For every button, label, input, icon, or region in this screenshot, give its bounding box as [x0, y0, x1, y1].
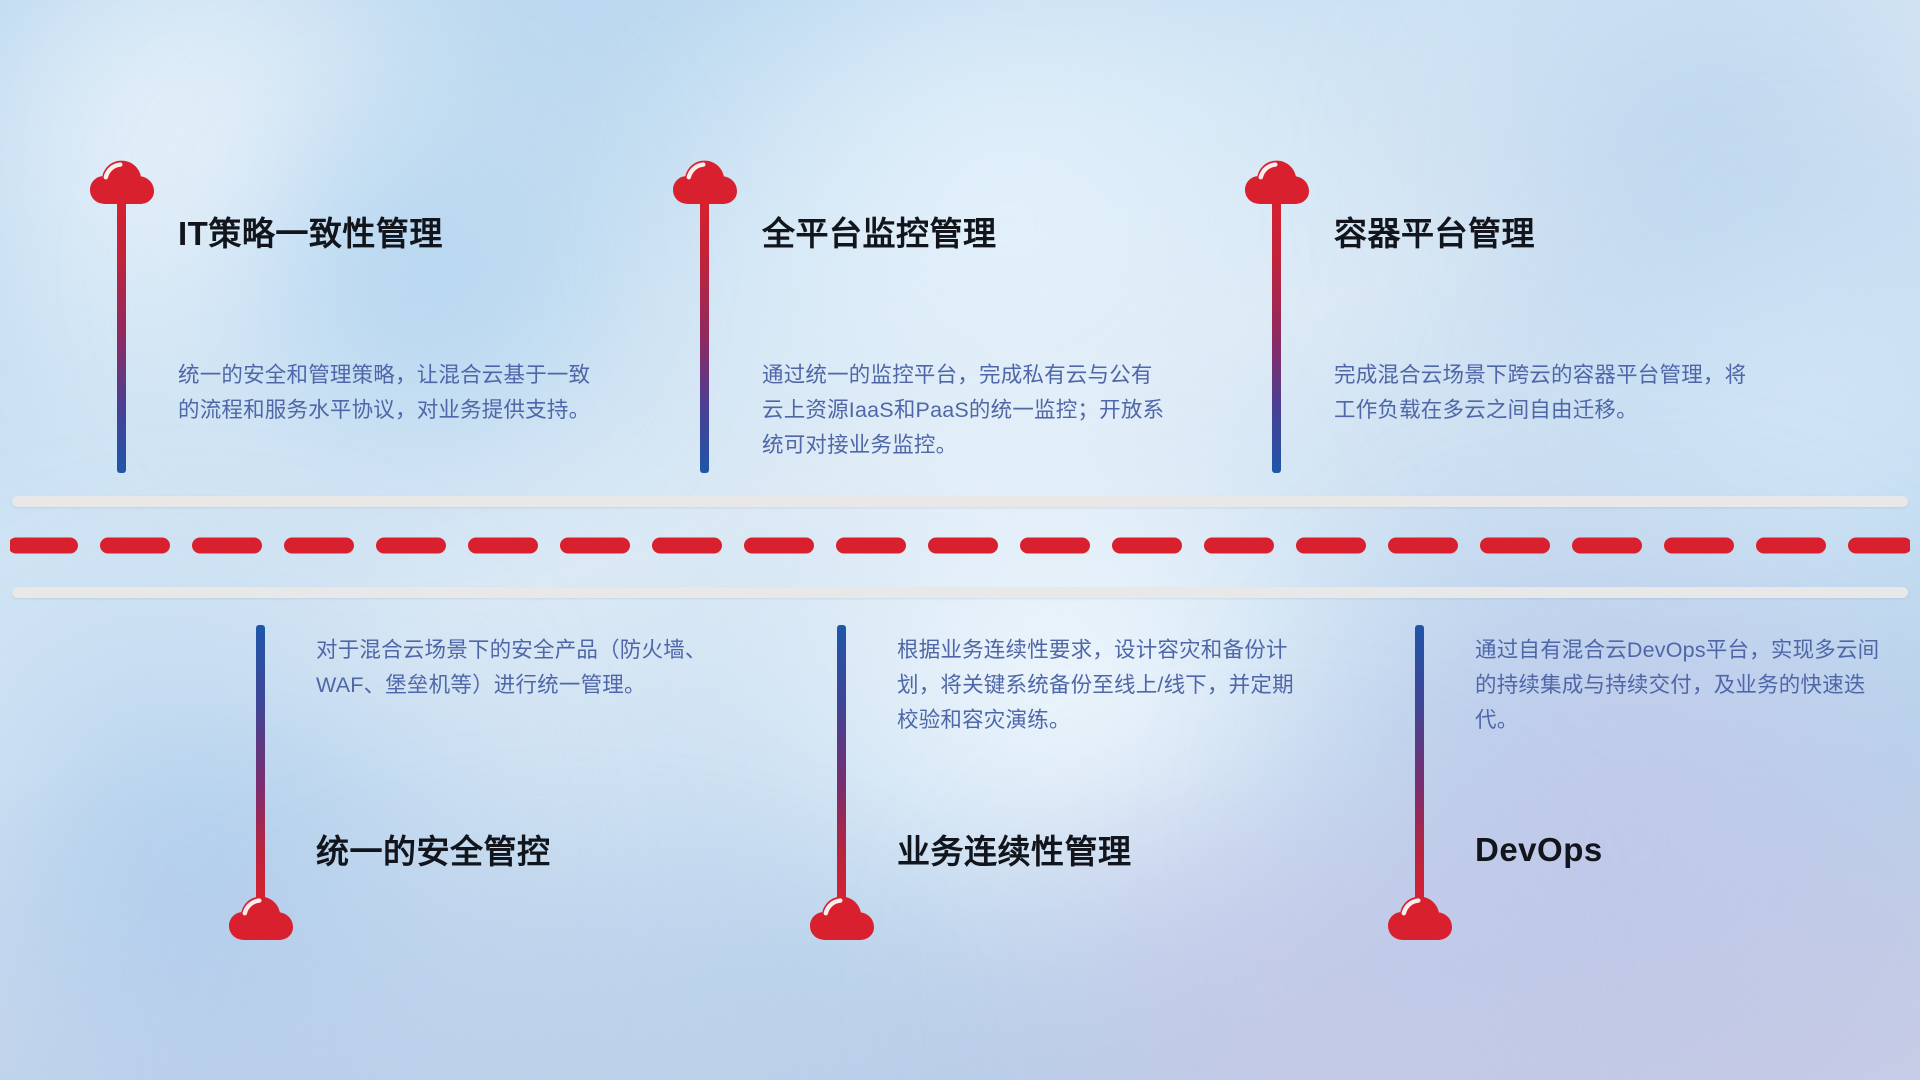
cloud-icon	[808, 893, 876, 943]
section-title: 统一的安全管控	[316, 835, 551, 868]
divider-rule-bottom	[12, 587, 1908, 598]
section-title: 业务连续性管理	[897, 835, 1132, 868]
pin-stem	[117, 193, 126, 473]
pin-stem	[700, 193, 709, 473]
section-body: 统一的安全和管理策略，让混合云基于一致的流程和服务水平协议，对业务提供支持。	[178, 358, 598, 428]
red-dashed-line	[10, 537, 1910, 554]
section-body: 完成混合云场景下跨云的容器平台管理，将工作负载在多云之间自由迁移。	[1334, 358, 1764, 428]
cloud-icon	[227, 893, 295, 943]
cloud-icon	[1243, 157, 1311, 207]
infographic-canvas: IT策略一致性管理 统一的安全和管理策略，让混合云基于一致的流程和服务水平协议，…	[0, 0, 1920, 1080]
divider	[0, 484, 1920, 604]
pin-stem	[1415, 625, 1424, 905]
pin-stem	[837, 625, 846, 905]
section-body: 根据业务连续性要求，设计容灾和备份计划，将关键系统备份至线上/线下，并定期校验和…	[897, 633, 1315, 737]
section-title: 全平台监控管理	[762, 217, 997, 250]
section-body: 对于混合云场景下的安全产品（防火墙、WAF、堡垒机等）进行统一管理。	[316, 633, 728, 703]
section-title: DevOps	[1475, 833, 1603, 866]
divider-rule-top	[12, 496, 1908, 507]
cloud-icon	[1386, 893, 1454, 943]
section-body: 通过自有混合云DevOps平台，实现多云间的持续集成与持续交付，及业务的快速迭代…	[1475, 633, 1883, 737]
cloud-icon	[671, 157, 739, 207]
section-title: 容器平台管理	[1334, 217, 1535, 250]
pin-stem	[256, 625, 265, 905]
section-title: IT策略一致性管理	[178, 217, 443, 250]
pin-stem	[1272, 193, 1281, 473]
cloud-icon	[88, 157, 156, 207]
section-body: 通过统一的监控平台，完成私有云与公有云上资源IaaS和PaaS的统一监控；开放系…	[762, 358, 1174, 462]
